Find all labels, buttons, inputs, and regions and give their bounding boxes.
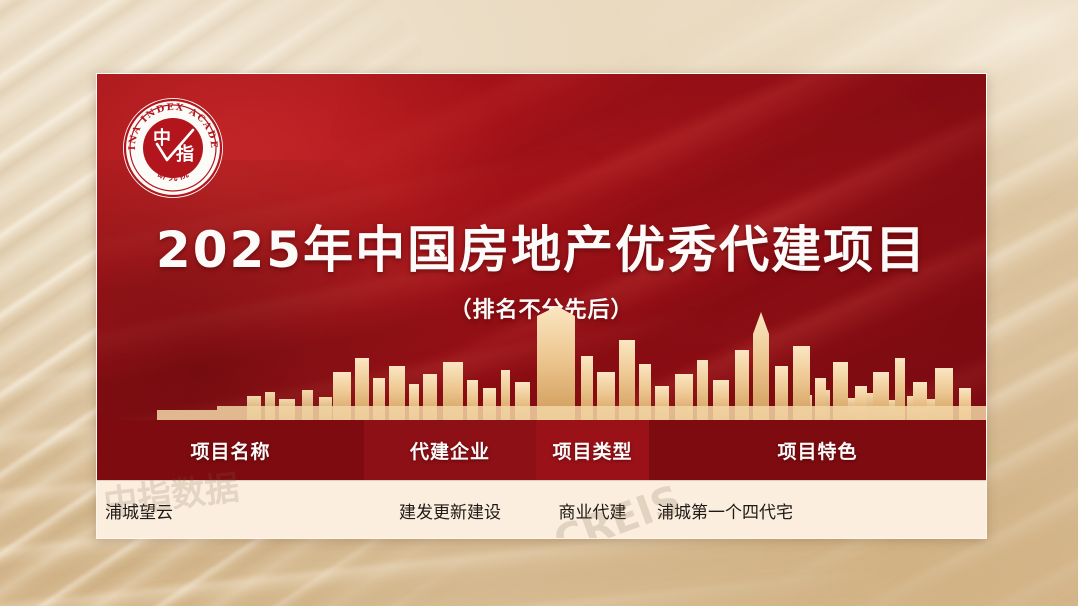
svg-text:中: 中 bbox=[153, 127, 171, 149]
table-row: 浦城望云 建发更新建设 商业代建 浦城第一个四代宅 bbox=[97, 480, 986, 539]
column-header-agent-company: 代建企业 bbox=[364, 420, 536, 480]
cell-agent-company: 建发更新建设 bbox=[364, 481, 536, 539]
cell-project-feature: 浦城第一个四代宅 bbox=[649, 481, 986, 539]
poster-card: CHINA INDEX ACADEMY 研 究 院 中 指 2025年中国房地产… bbox=[96, 73, 987, 539]
china-index-academy-logo: CHINA INDEX ACADEMY 研 究 院 中 指 bbox=[121, 96, 225, 200]
column-header-project-feature: 项目特色 bbox=[649, 420, 986, 480]
column-header-project-type: 项目类型 bbox=[536, 420, 649, 480]
poster-banner: CHINA INDEX ACADEMY 研 究 院 中 指 2025年中国房地产… bbox=[97, 74, 986, 420]
city-skyline-graphic bbox=[97, 300, 986, 420]
cell-project-type: 商业代建 bbox=[536, 481, 649, 539]
cell-project-name: 浦城望云 bbox=[97, 481, 364, 539]
poster-title: 2025年中国房地产优秀代建项目 bbox=[97, 210, 986, 282]
column-header-project-name: 项目名称 bbox=[97, 420, 364, 480]
table-header-row: 项目名称 代建企业 项目类型 项目特色 bbox=[97, 420, 986, 480]
